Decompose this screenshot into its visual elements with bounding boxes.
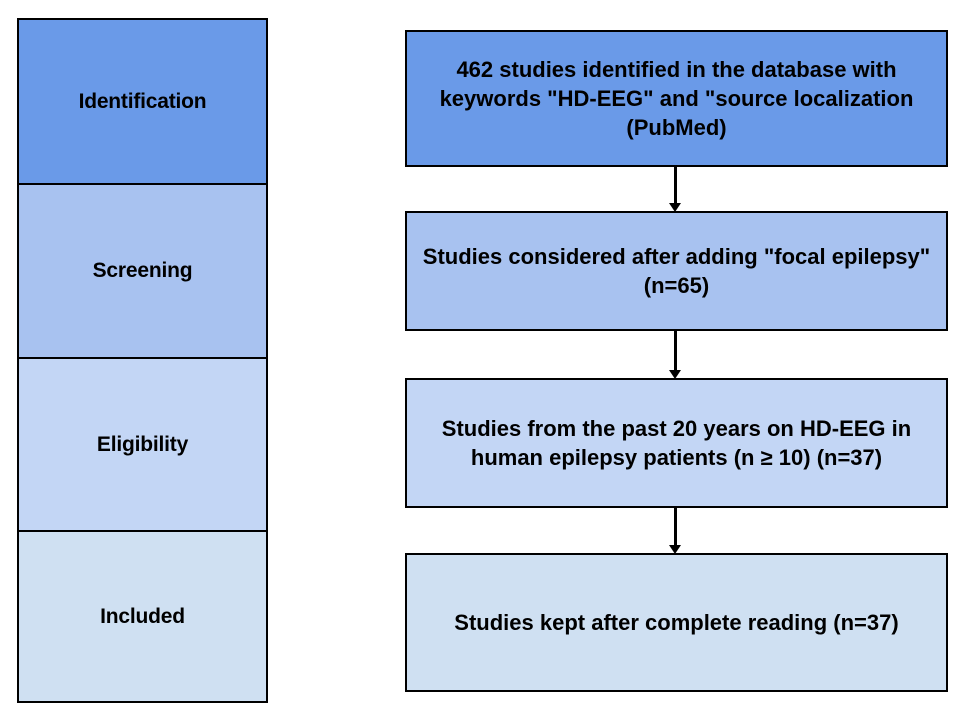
- flow-box-identified-text: 462 studies identified in the database w…: [417, 55, 936, 142]
- stage-column: Identification Screening Eligibility Inc…: [17, 18, 268, 703]
- connector-identified-to-screened: [674, 167, 677, 205]
- stage-label-identification: Identification: [79, 90, 207, 114]
- flow-box-screened-text: Studies considered after adding "focal e…: [417, 242, 936, 300]
- flow-box-included: Studies kept after complete reading (n=3…: [405, 553, 948, 692]
- flow-box-screened: Studies considered after adding "focal e…: [405, 211, 948, 331]
- stage-label-screening: Screening: [93, 259, 193, 283]
- connector-eligible-to-included: [674, 508, 677, 547]
- flow-box-identified: 462 studies identified in the database w…: [405, 30, 948, 167]
- stage-label-included: Included: [100, 605, 185, 629]
- connector-screened-to-eligible: [674, 331, 677, 372]
- prisma-flow-diagram: Identification Screening Eligibility Inc…: [0, 0, 960, 720]
- stage-cell-identification: Identification: [19, 20, 266, 185]
- flow-box-eligible-text: Studies from the past 20 years on HD-EEG…: [417, 414, 936, 472]
- flow-box-eligible: Studies from the past 20 years on HD-EEG…: [405, 378, 948, 508]
- stage-cell-screening: Screening: [19, 185, 266, 359]
- stage-label-eligibility: Eligibility: [97, 433, 188, 457]
- stage-cell-included: Included: [19, 532, 266, 701]
- flow-box-included-text: Studies kept after complete reading (n=3…: [417, 608, 936, 637]
- stage-cell-eligibility: Eligibility: [19, 359, 266, 532]
